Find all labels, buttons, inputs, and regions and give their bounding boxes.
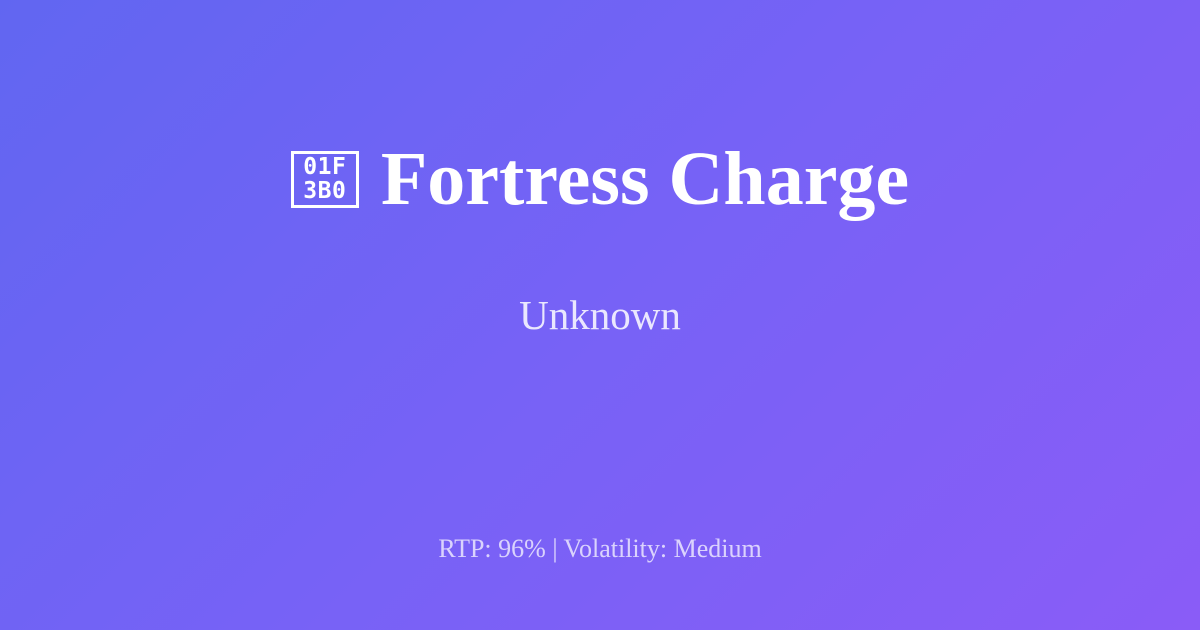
og-image-card: 01F 3B0 Fortress Charge Unknown RTP: 96%… <box>0 0 1200 630</box>
game-stats-meta: RTP: 96% | Volatility: Medium <box>438 533 761 564</box>
footer: RTP: 96% | Volatility: Medium <box>0 533 1200 564</box>
slot-machine-icon: 01F 3B0 <box>291 151 359 208</box>
page-subtitle: Unknown <box>519 293 681 338</box>
slot-machine-icon-codepoint-high: 01F <box>303 155 346 179</box>
hero-block: 01F 3B0 Fortress Charge Unknown <box>0 0 1200 478</box>
title-row: 01F 3B0 Fortress Charge <box>291 140 909 219</box>
page-title: Fortress Charge <box>381 140 909 219</box>
slot-machine-icon-codepoint-low: 3B0 <box>303 179 346 203</box>
